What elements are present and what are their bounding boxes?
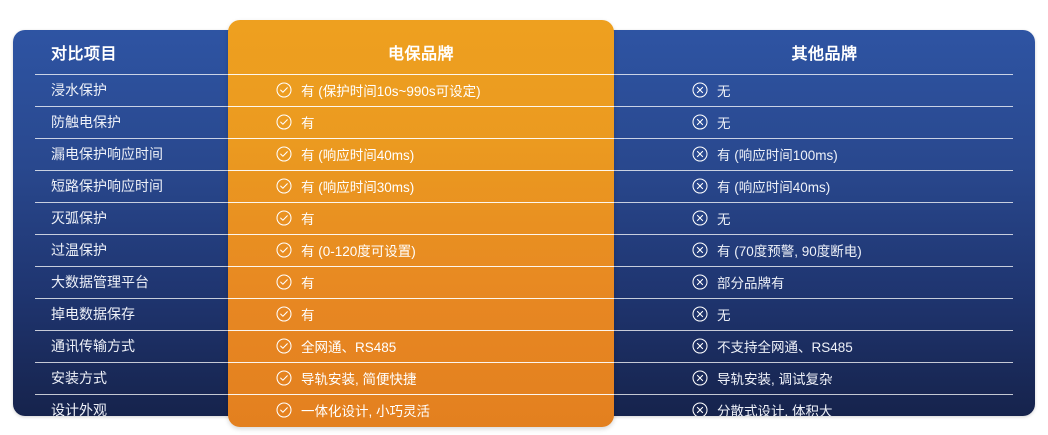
feature-column: 对比项目 浸水保护防触电保护漏电保护响应时间短路保护响应时间灭弧保护过温保护大数… (13, 30, 228, 416)
cell-value: 有 (响应时间100ms) (717, 144, 838, 164)
cell-value: 设计外观 (51, 400, 107, 416)
others-column: 其他品牌 无无有 (响应时间100ms)有 (响应时间40ms)无有 (70度预… (614, 30, 1035, 416)
x-circle-icon (692, 146, 708, 162)
table-row: 有 (228, 266, 614, 298)
cell-value: 有 (0-120度可设置) (301, 240, 416, 260)
table-row: 有 (228, 298, 614, 330)
cell-value: 防触电保护 (51, 112, 121, 132)
table-row: 有 (响应时间100ms) (614, 138, 1035, 170)
cell-value: 掉电数据保存 (51, 304, 135, 324)
table-row: 设计外观 (13, 394, 228, 416)
cell-value: 有 (响应时间40ms) (301, 144, 414, 164)
cell-value: 浸水保护 (51, 80, 107, 100)
table-row: 掉电数据保存 (13, 298, 228, 330)
cell-value: 不支持全网通、RS485 (717, 336, 853, 356)
x-circle-icon (692, 242, 708, 258)
x-circle-icon (692, 370, 708, 386)
cell-value: 导轨安装, 调试复杂 (717, 368, 833, 388)
x-circle-icon (692, 178, 708, 194)
check-circle-icon (276, 82, 292, 98)
cell-value: 有 (301, 304, 315, 324)
check-circle-icon (276, 178, 292, 194)
cell-value: 有 (响应时间40ms) (717, 176, 830, 196)
check-circle-icon (276, 114, 292, 130)
check-circle-icon (276, 210, 292, 226)
table-row: 有 (保护时间10s~990s可设定) (228, 74, 614, 106)
check-circle-icon (276, 306, 292, 322)
cell-value: 过温保护 (51, 240, 107, 260)
column-header-others: 其他品牌 (614, 30, 1035, 74)
cell-value: 无 (717, 80, 731, 100)
cell-value: 无 (717, 112, 731, 132)
cell-value: 灭弧保护 (51, 208, 107, 228)
table-row: 短路保护响应时间 (13, 170, 228, 202)
x-circle-icon (692, 274, 708, 290)
cell-value: 大数据管理平台 (51, 272, 149, 292)
x-circle-icon (692, 402, 708, 416)
check-circle-icon (276, 146, 292, 162)
table-row: 通讯传输方式 (13, 330, 228, 362)
cell-value: 有 (70度预警, 90度断电) (717, 240, 862, 260)
table-row: 有 (70度预警, 90度断电) (614, 234, 1035, 266)
table-row: 有 (0-120度可设置) (228, 234, 614, 266)
comparison-table-orange-panel: 电保品牌 有 (保护时间10s~990s可设定)有有 (响应时间40ms)有 (… (228, 20, 614, 427)
column-header-feature: 对比项目 (13, 30, 228, 74)
table-row: 无 (614, 106, 1035, 138)
table-row: 浸水保护 (13, 74, 228, 106)
cell-value: 全网通、RS485 (301, 336, 396, 356)
table-row: 安装方式 (13, 362, 228, 394)
table-row: 过温保护 (13, 234, 228, 266)
table-row: 有 (响应时间40ms) (614, 170, 1035, 202)
cell-value: 有 (301, 208, 315, 228)
ours-column-rows: 有 (保护时间10s~990s可设定)有有 (响应时间40ms)有 (响应时间3… (228, 74, 614, 426)
cell-value: 有 (保护时间10s~990s可设定) (301, 80, 481, 100)
table-row: 大数据管理平台 (13, 266, 228, 298)
table-row: 部分品牌有 (614, 266, 1035, 298)
table-row: 有 (228, 106, 614, 138)
table-row: 灭弧保护 (13, 202, 228, 234)
check-circle-icon (276, 402, 292, 418)
x-circle-icon (692, 114, 708, 130)
cell-value: 有 (301, 112, 315, 132)
table-row: 有 (响应时间30ms) (228, 170, 614, 202)
others-column-rows: 无无有 (响应时间100ms)有 (响应时间40ms)无有 (70度预警, 90… (614, 74, 1035, 416)
table-row: 不支持全网通、RS485 (614, 330, 1035, 362)
cell-value: 安装方式 (51, 368, 107, 388)
x-circle-icon (692, 210, 708, 226)
table-row: 导轨安装, 简便快捷 (228, 362, 614, 394)
cell-value: 部分品牌有 (717, 272, 785, 292)
cell-value: 一体化设计, 小巧灵活 (301, 400, 430, 420)
check-circle-icon (276, 338, 292, 354)
table-row: 有 (228, 202, 614, 234)
cell-value: 导轨安装, 简便快捷 (301, 368, 417, 388)
cell-value: 通讯传输方式 (51, 336, 135, 356)
cell-value: 无 (717, 208, 731, 228)
x-circle-icon (692, 82, 708, 98)
cell-value: 无 (717, 304, 731, 324)
ours-column: 电保品牌 有 (保护时间10s~990s可设定)有有 (响应时间40ms)有 (… (228, 30, 614, 416)
table-row: 防触电保护 (13, 106, 228, 138)
cell-value: 短路保护响应时间 (51, 176, 163, 196)
check-circle-icon (276, 242, 292, 258)
x-circle-icon (692, 338, 708, 354)
table-row: 无 (614, 74, 1035, 106)
cell-value: 分散式设计, 体积大 (717, 400, 833, 416)
table-row: 一体化设计, 小巧灵活 (228, 394, 614, 426)
table-row: 全网通、RS485 (228, 330, 614, 362)
column-header-ours: 电保品牌 (228, 30, 614, 74)
table-row: 漏电保护响应时间 (13, 138, 228, 170)
table-row: 无 (614, 202, 1035, 234)
check-circle-icon (276, 274, 292, 290)
cell-value: 漏电保护响应时间 (51, 144, 163, 164)
table-row: 无 (614, 298, 1035, 330)
check-circle-icon (276, 370, 292, 386)
feature-column-rows: 浸水保护防触电保护漏电保护响应时间短路保护响应时间灭弧保护过温保护大数据管理平台… (13, 74, 228, 416)
cell-value: 有 (响应时间30ms) (301, 176, 414, 196)
x-circle-icon (692, 306, 708, 322)
cell-value: 有 (301, 272, 315, 292)
table-row: 有 (响应时间40ms) (228, 138, 614, 170)
table-row: 导轨安装, 调试复杂 (614, 362, 1035, 394)
table-row: 分散式设计, 体积大 (614, 394, 1035, 416)
